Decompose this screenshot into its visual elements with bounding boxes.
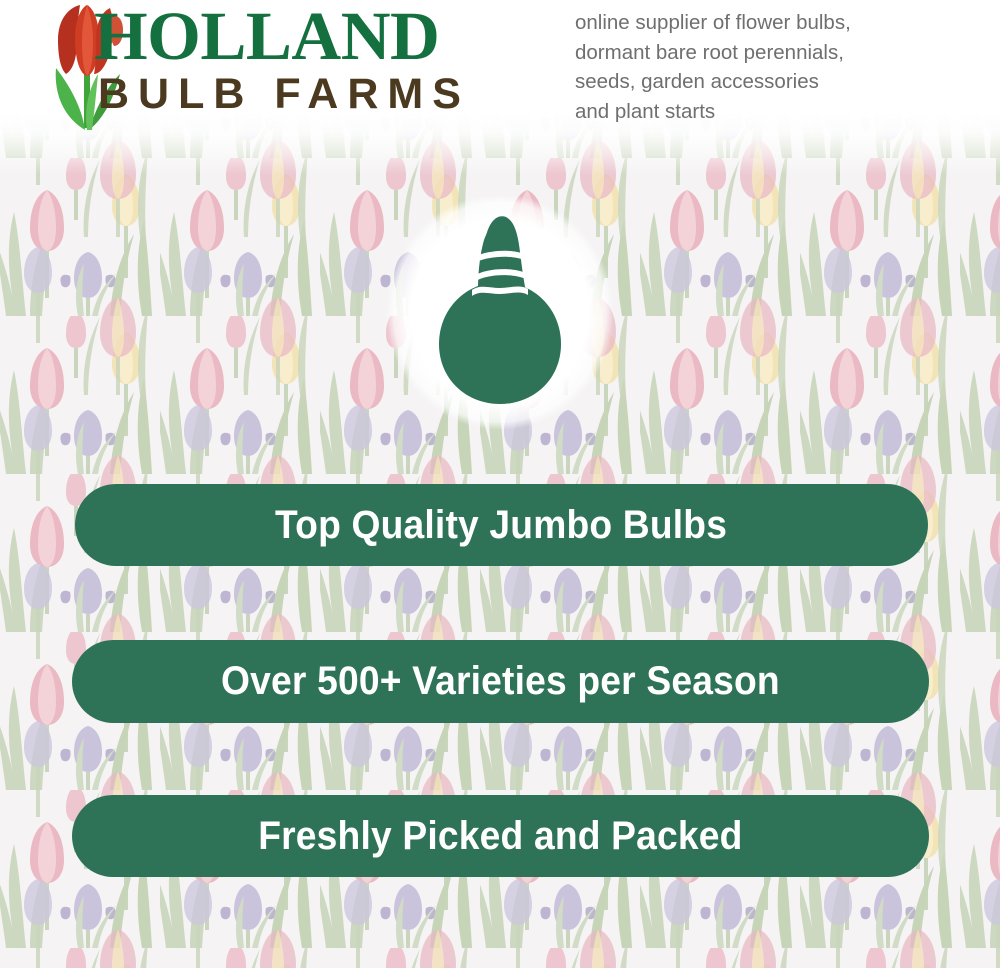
promo-banner: HOLLAND BULB FARMS online supplier of fl… (0, 0, 1000, 968)
logo-wordmark-bulb-farms: BULB FARMS (98, 70, 470, 118)
feature-pill-2[interactable]: Over 500+ Varieties per Season (72, 640, 929, 723)
tagline-line-2: dormant bare root perennials, (575, 38, 975, 68)
tagline: online supplier of flower bulbs, dormant… (575, 8, 975, 126)
bulb-badge (386, 190, 614, 433)
tagline-line-1: online supplier of flower bulbs, (575, 8, 975, 38)
feature-pill-1[interactable]: Top Quality Jumbo Bulbs (75, 484, 928, 566)
feature-pill-3[interactable]: Freshly Picked and Packed (72, 795, 929, 877)
header: HOLLAND BULB FARMS online supplier of fl… (0, 0, 1000, 136)
feature-pill-2-label: Over 500+ Varieties per Season (221, 659, 780, 704)
feature-pill-1-label: Top Quality Jumbo Bulbs (275, 503, 727, 548)
logo-wordmark-holland: HOLLAND (94, 0, 439, 72)
tagline-line-3: seeds, garden accessories (575, 67, 975, 97)
brand-logo[interactable]: HOLLAND BULB FARMS (38, 2, 528, 130)
feature-pill-3-label: Freshly Picked and Packed (258, 814, 742, 859)
tagline-line-4: and plant starts (575, 97, 975, 127)
